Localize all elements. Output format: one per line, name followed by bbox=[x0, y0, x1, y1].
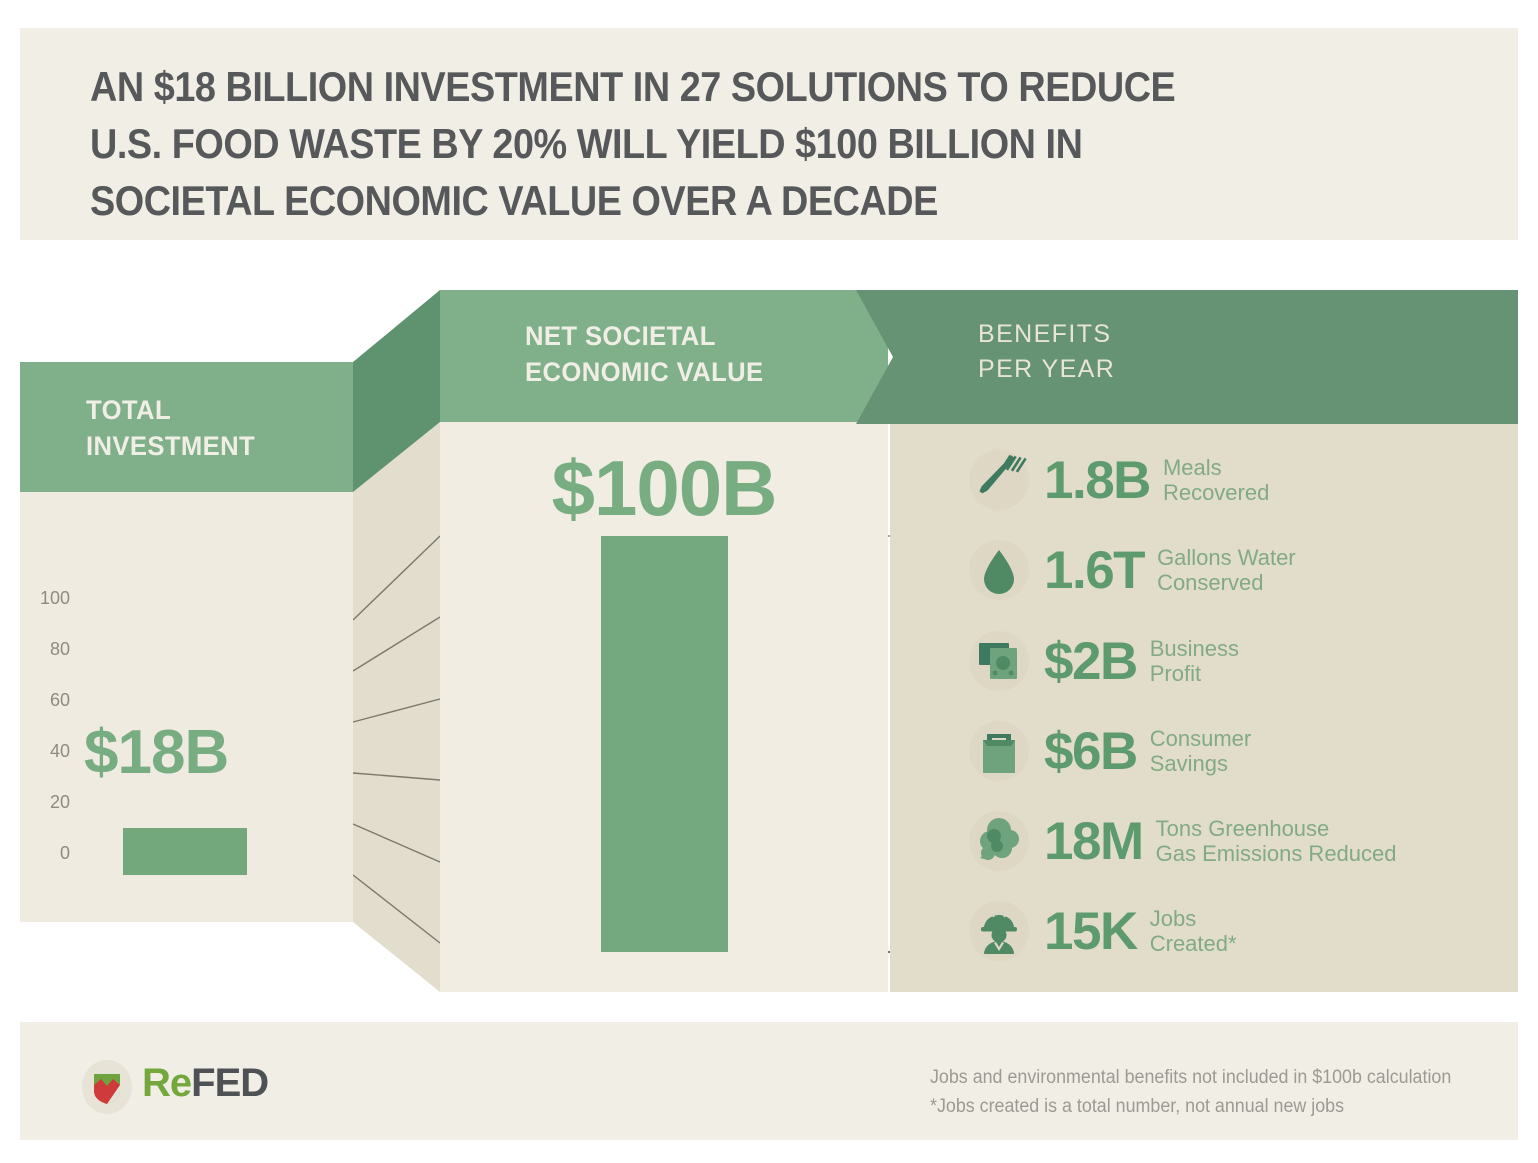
mid-panel-value-label: $100B bbox=[440, 443, 888, 534]
y-tick-100: 100 bbox=[24, 588, 70, 609]
benefit-label: Gallons Water Conserved bbox=[1157, 545, 1296, 595]
magnifier-connector bbox=[353, 422, 440, 992]
cash-icon bbox=[966, 628, 1032, 694]
benefit-label: Tons Greenhouse Gas Emissions Reduced bbox=[1156, 816, 1397, 866]
smoke-cloud-icon-glyph bbox=[966, 808, 1032, 874]
left-panel-header-label: TOTAL INVESTMENT bbox=[86, 392, 333, 464]
benefit-label: Consumer Savings bbox=[1150, 726, 1251, 776]
smoke-cloud-icon bbox=[966, 808, 1032, 874]
y-tick-80: 80 bbox=[24, 639, 70, 660]
fork-icon bbox=[966, 447, 1032, 513]
title-band: AN $18 BILLION INVESTMENT IN 27 SOLUTION… bbox=[20, 28, 1518, 240]
benefit-value: 18M bbox=[1044, 815, 1143, 868]
footnote-line-2: *Jobs created is a total number, not ann… bbox=[930, 1092, 1456, 1121]
benefit-label-line-1: Meals bbox=[1163, 455, 1269, 480]
benefit-label-line-2: Profit bbox=[1150, 661, 1239, 686]
footer-notes: Jobs and environmental benefits not incl… bbox=[930, 1063, 1456, 1121]
right-header-line-1: BENEFITS bbox=[978, 317, 1398, 352]
water-drop-icon-glyph bbox=[966, 537, 1032, 603]
benefit-row: $2B Business Profit bbox=[966, 621, 1239, 701]
shopping-bag-icon bbox=[966, 718, 1032, 784]
title-line-3: SOCIETAL ECONOMIC VALUE OVER A DECADE bbox=[90, 172, 1350, 229]
benefit-label-line-1: Consumer bbox=[1150, 726, 1251, 751]
y-tick-20: 20 bbox=[24, 792, 70, 813]
footnote-line-1: Jobs and environmental benefits not incl… bbox=[930, 1063, 1456, 1092]
worker-icon bbox=[966, 898, 1032, 964]
benefit-value: 15K bbox=[1044, 905, 1137, 958]
benefit-label-line-2: Recovered bbox=[1163, 480, 1269, 505]
benefit-label-line-2: Gas Emissions Reduced bbox=[1156, 841, 1397, 866]
benefit-label: Meals Recovered bbox=[1163, 455, 1269, 505]
benefit-row: $6B Consumer Savings bbox=[966, 711, 1251, 791]
benefit-label: Jobs Created* bbox=[1150, 906, 1237, 956]
mid-panel-header-label: NET SOCIETAL ECONOMIC VALUE bbox=[525, 318, 886, 390]
benefit-label-line-1: Business bbox=[1150, 636, 1239, 661]
benefit-label-line-2: Created* bbox=[1150, 931, 1237, 956]
benefit-value: $2B bbox=[1044, 635, 1137, 688]
refed-logo[interactable]: ReFED bbox=[78, 1058, 308, 1116]
logo-re-text: Re bbox=[142, 1061, 191, 1105]
benefit-row: 18M Tons Greenhouse Gas Emissions Reduce… bbox=[966, 801, 1397, 881]
ribbon-bevel bbox=[353, 290, 440, 492]
right-panel-header-label: BENEFITS PER YEAR bbox=[978, 317, 1398, 387]
left-panel-value-label: $18B bbox=[84, 722, 228, 784]
infographic-root: AN $18 BILLION INVESTMENT IN 27 SOLUTION… bbox=[0, 0, 1538, 1163]
refed-logo-text: ReFED bbox=[142, 1061, 268, 1106]
benefit-row: 1.6T Gallons Water Conserved bbox=[966, 530, 1296, 610]
benefit-label-line-1: Gallons Water bbox=[1157, 545, 1296, 570]
title-line-2: U.S. FOOD WASTE BY 20% WILL YIELD $100 B… bbox=[90, 115, 1350, 172]
logo-fed-text: FED bbox=[191, 1061, 268, 1105]
y-tick-60: 60 bbox=[24, 690, 70, 711]
connector-gridlines bbox=[353, 536, 440, 943]
left-chart-bar bbox=[123, 828, 247, 875]
refed-logo-badge-icon bbox=[78, 1058, 136, 1116]
benefit-value: 1.8B bbox=[1044, 454, 1150, 507]
benefit-label-line-2: Savings bbox=[1150, 751, 1251, 776]
benefit-value: $6B bbox=[1044, 725, 1137, 778]
benefit-row: 15K Jobs Created* bbox=[966, 891, 1237, 971]
y-tick-0: 0 bbox=[24, 843, 70, 864]
mid-chart-bar bbox=[601, 536, 728, 952]
benefit-label: Business Profit bbox=[1150, 636, 1239, 686]
fork-icon-glyph bbox=[966, 447, 1032, 513]
shopping-bag-icon-glyph bbox=[966, 718, 1032, 784]
benefit-label-line-2: Conserved bbox=[1157, 570, 1296, 595]
mid-header-line-2: ECONOMIC VALUE bbox=[525, 354, 886, 390]
left-chart-y-axis: 100 80 60 40 20 0 bbox=[20, 600, 70, 890]
cash-icon-glyph bbox=[966, 628, 1032, 694]
benefit-row: 1.8B Meals Recovered bbox=[966, 440, 1269, 520]
benefit-label-line-1: Jobs bbox=[1150, 906, 1237, 931]
benefit-label-line-1: Tons Greenhouse bbox=[1156, 816, 1397, 841]
left-header-line-2: INVESTMENT bbox=[86, 428, 333, 464]
page-title: AN $18 BILLION INVESTMENT IN 27 SOLUTION… bbox=[90, 58, 1350, 229]
left-header-line-1: TOTAL bbox=[86, 392, 333, 428]
water-drop-icon bbox=[966, 537, 1032, 603]
worker-icon-glyph bbox=[966, 898, 1032, 964]
y-tick-40: 40 bbox=[24, 741, 70, 762]
right-header-line-2: PER YEAR bbox=[978, 352, 1398, 387]
benefit-value: 1.6T bbox=[1044, 544, 1144, 597]
title-line-1: AN $18 BILLION INVESTMENT IN 27 SOLUTION… bbox=[90, 58, 1350, 115]
mid-header-line-1: NET SOCIETAL bbox=[525, 318, 886, 354]
